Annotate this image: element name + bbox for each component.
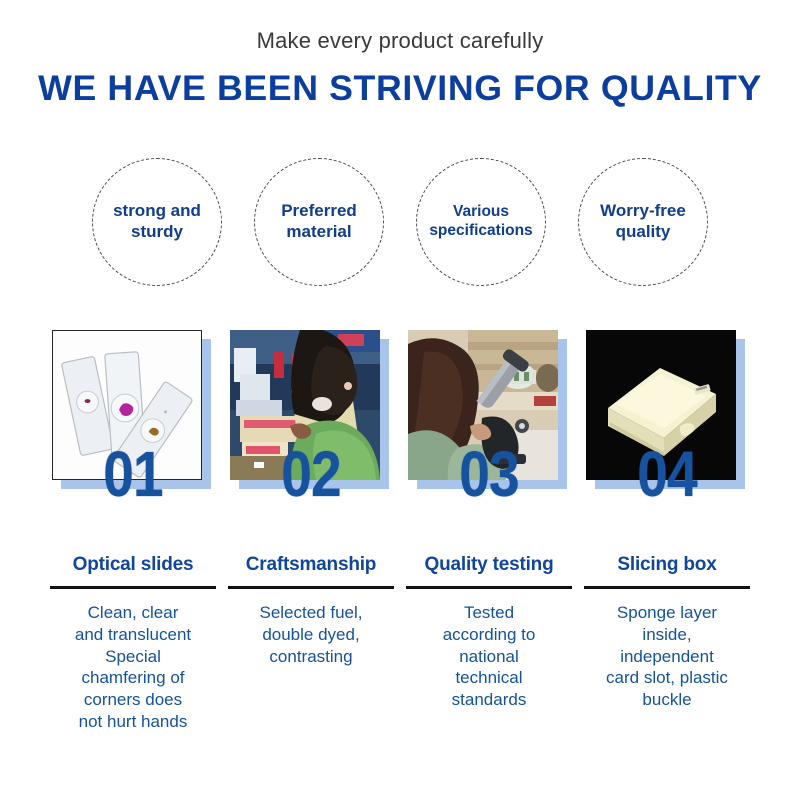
- card-description: Selected fuel, double dyed, contrasting: [218, 602, 404, 667]
- feature-badges: strong and sturdy Preferred material Var…: [0, 158, 800, 290]
- card-number: 02: [234, 442, 387, 506]
- card-divider: [406, 586, 572, 589]
- product-feature-banner: Make every product carefully WE HAVE BEE…: [0, 0, 800, 800]
- badge-label: strong and sturdy: [93, 201, 221, 242]
- badge-strong-and-sturdy: strong and sturdy: [92, 158, 222, 286]
- page-title: WE HAVE BEEN STRIVING FOR QUALITY: [0, 70, 800, 109]
- header: Make every product carefully WE HAVE BEE…: [0, 0, 800, 109]
- card-description: Clean, clear and translucent Special cha…: [40, 602, 226, 733]
- badge-various-specifications: Various specifications: [416, 158, 546, 286]
- badge-label: Various specifications: [417, 203, 545, 241]
- card-title: Quality testing: [400, 554, 578, 576]
- product-cards: 01 Optical slides Clean, clear and trans…: [0, 330, 800, 480]
- card-craftsmanship: 02 Craftsmanship Selected fuel, double d…: [222, 330, 400, 480]
- page-subtitle: Make every product carefully: [0, 28, 800, 54]
- badge-label: Preferred material: [255, 201, 383, 242]
- badge-worry-free-quality: Worry-free quality: [578, 158, 708, 286]
- card-number: 01: [56, 442, 209, 506]
- card-description: Tested according to national technical s…: [396, 602, 582, 711]
- card-optical-slides: 01 Optical slides Clean, clear and trans…: [44, 330, 222, 480]
- card-title: Optical slides: [44, 554, 222, 576]
- card-divider: [50, 586, 216, 589]
- card-slicing-box: 04 Slicing box Sponge layer inside, inde…: [578, 330, 756, 480]
- card-title: Craftsmanship: [222, 554, 400, 576]
- card-number: 03: [412, 442, 565, 506]
- card-divider: [584, 586, 750, 589]
- card-number: 04: [590, 442, 743, 506]
- badge-label: Worry-free quality: [579, 201, 707, 242]
- card-title: Slicing box: [578, 554, 756, 576]
- card-quality-testing: 03 Quality testing Tested according to n…: [400, 330, 578, 480]
- card-description: Sponge layer inside, independent card sl…: [574, 602, 760, 711]
- badge-preferred-material: Preferred material: [254, 158, 384, 286]
- card-divider: [228, 586, 394, 589]
